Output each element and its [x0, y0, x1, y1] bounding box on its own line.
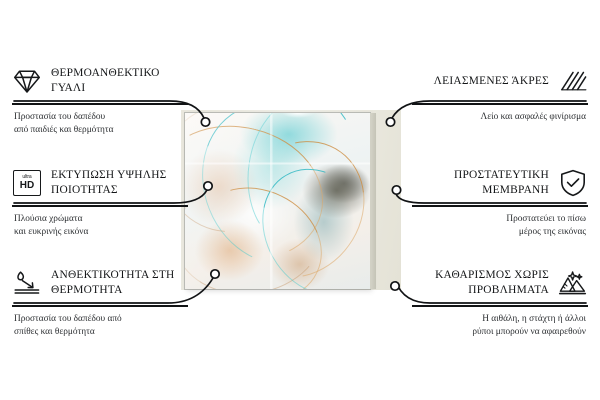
feature-description: Προστατεύει το πίσω μέρος της εικόνας [412, 213, 588, 239]
glass-panel [185, 113, 370, 289]
feature-header: ΠΡΟΣΤΑΤΕΥΤΙΚΗ ΜΕΜΒΡΑΝΗ [412, 166, 588, 200]
feature-header: ΑΝΘΕΚΤΙΚΟΤΗΤΑ ΣΤΗ ΘΕΡΜΟΤΗΤΑ [12, 266, 188, 300]
feature-divider [12, 305, 188, 307]
ultra-hd-icon: ultra HD [12, 168, 42, 198]
marble-artwork [185, 113, 370, 289]
panel-edge [370, 113, 376, 289]
feature-divider [412, 103, 588, 105]
heat-resistance-icon [12, 268, 42, 298]
feature-divider [412, 305, 588, 307]
product-feature-infographic: ΘΕΡΜΟΑΝΘΕΚΤΙΚΟ ΓΥΑΛΙ Προστασία του δαπέδ… [0, 0, 600, 400]
feature-description: Προστασία του δαπέδου από σπίθες και θερ… [12, 313, 188, 339]
feature-easy-cleaning: ΚΑΘΑΡΙΣΜΟΣ ΧΩΡΙΣ ΠΡΟΒΛΗΜΑΤΑ Η αιθάλη, η … [412, 266, 588, 339]
feature-title: ΕΚΤΥΠΩΣΗ ΥΨΗΛΗΣ ΠΟΙΟΤΗΤΑΣ [51, 168, 188, 198]
ultra-hd-icon-bottom-text: HD [20, 181, 34, 191]
feature-header: ΘΕΡΜΟΑΝΘΕΚΤΙΚΟ ΓΥΑΛΙ [12, 64, 188, 98]
feature-divider [12, 205, 188, 207]
feature-title: ΚΑΘΑΡΙΣΜΟΣ ΧΩΡΙΣ ΠΡΟΒΛΗΜΑΤΑ [412, 268, 549, 298]
feature-description: Προστασία του δαπέδου από παιδιές και θε… [12, 111, 188, 137]
feature-description: Πλούσια χρώματα και ευκρινής εικόνα [12, 213, 188, 239]
feature-high-quality-print: ultra HD ΕΚΤΥΠΩΣΗ ΥΨΗΛΗΣ ΠΟΙΟΤΗΤΑΣ Πλούσ… [12, 166, 188, 239]
feature-header: ΛΕΙΑΣΜΕΝΕΣ ΆΚΡΕΣ [412, 64, 588, 98]
feature-title: ΘΕΡΜΟΑΝΘΕΚΤΙΚΟ ΓΥΑΛΙ [51, 66, 188, 96]
polished-edges-icon [558, 66, 588, 96]
feature-header: ultra HD ΕΚΤΥΠΩΣΗ ΥΨΗΛΗΣ ΠΟΙΟΤΗΤΑΣ [12, 166, 188, 200]
feature-divider [412, 205, 588, 207]
easy-cleaning-icon [558, 268, 588, 298]
feature-description: Η αιθάλη, η στάχτη ή άλλοι ρύποι μπορούν… [412, 313, 588, 339]
feature-divider [12, 103, 188, 105]
diamond-icon [12, 66, 42, 96]
product-image [181, 110, 401, 290]
feature-header: ΚΑΘΑΡΙΣΜΟΣ ΧΩΡΙΣ ΠΡΟΒΛΗΜΑΤΑ [412, 266, 588, 300]
feature-polished-edges: ΛΕΙΑΣΜΕΝΕΣ ΆΚΡΕΣ Λείο και ασφαλές φινίρι… [412, 64, 588, 124]
feature-title: ΛΕΙΑΣΜΕΝΕΣ ΆΚΡΕΣ [412, 74, 549, 89]
feature-title: ΑΝΘΕΚΤΙΚΟΤΗΤΑ ΣΤΗ ΘΕΡΜΟΤΗΤΑ [51, 268, 188, 298]
feature-description: Λείο και ασφαλές φινίρισμα [412, 111, 588, 124]
feature-heat-resistant-glass: ΘΕΡΜΟΑΝΘΕΚΤΙΚΟ ΓΥΑΛΙ Προστασία του δαπέδ… [12, 64, 188, 137]
feature-title: ΠΡΟΣΤΑΤΕΥΤΙΚΗ ΜΕΜΒΡΑΝΗ [412, 168, 549, 198]
feature-protective-membrane: ΠΡΟΣΤΑΤΕΥΤΙΚΗ ΜΕΜΒΡΑΝΗ Προστατεύει το πί… [412, 166, 588, 239]
shield-check-icon [558, 168, 588, 198]
feature-heat-resistance: ΑΝΘΕΚΤΙΚΟΤΗΤΑ ΣΤΗ ΘΕΡΜΟΤΗΤΑ Προστασία το… [12, 266, 188, 339]
